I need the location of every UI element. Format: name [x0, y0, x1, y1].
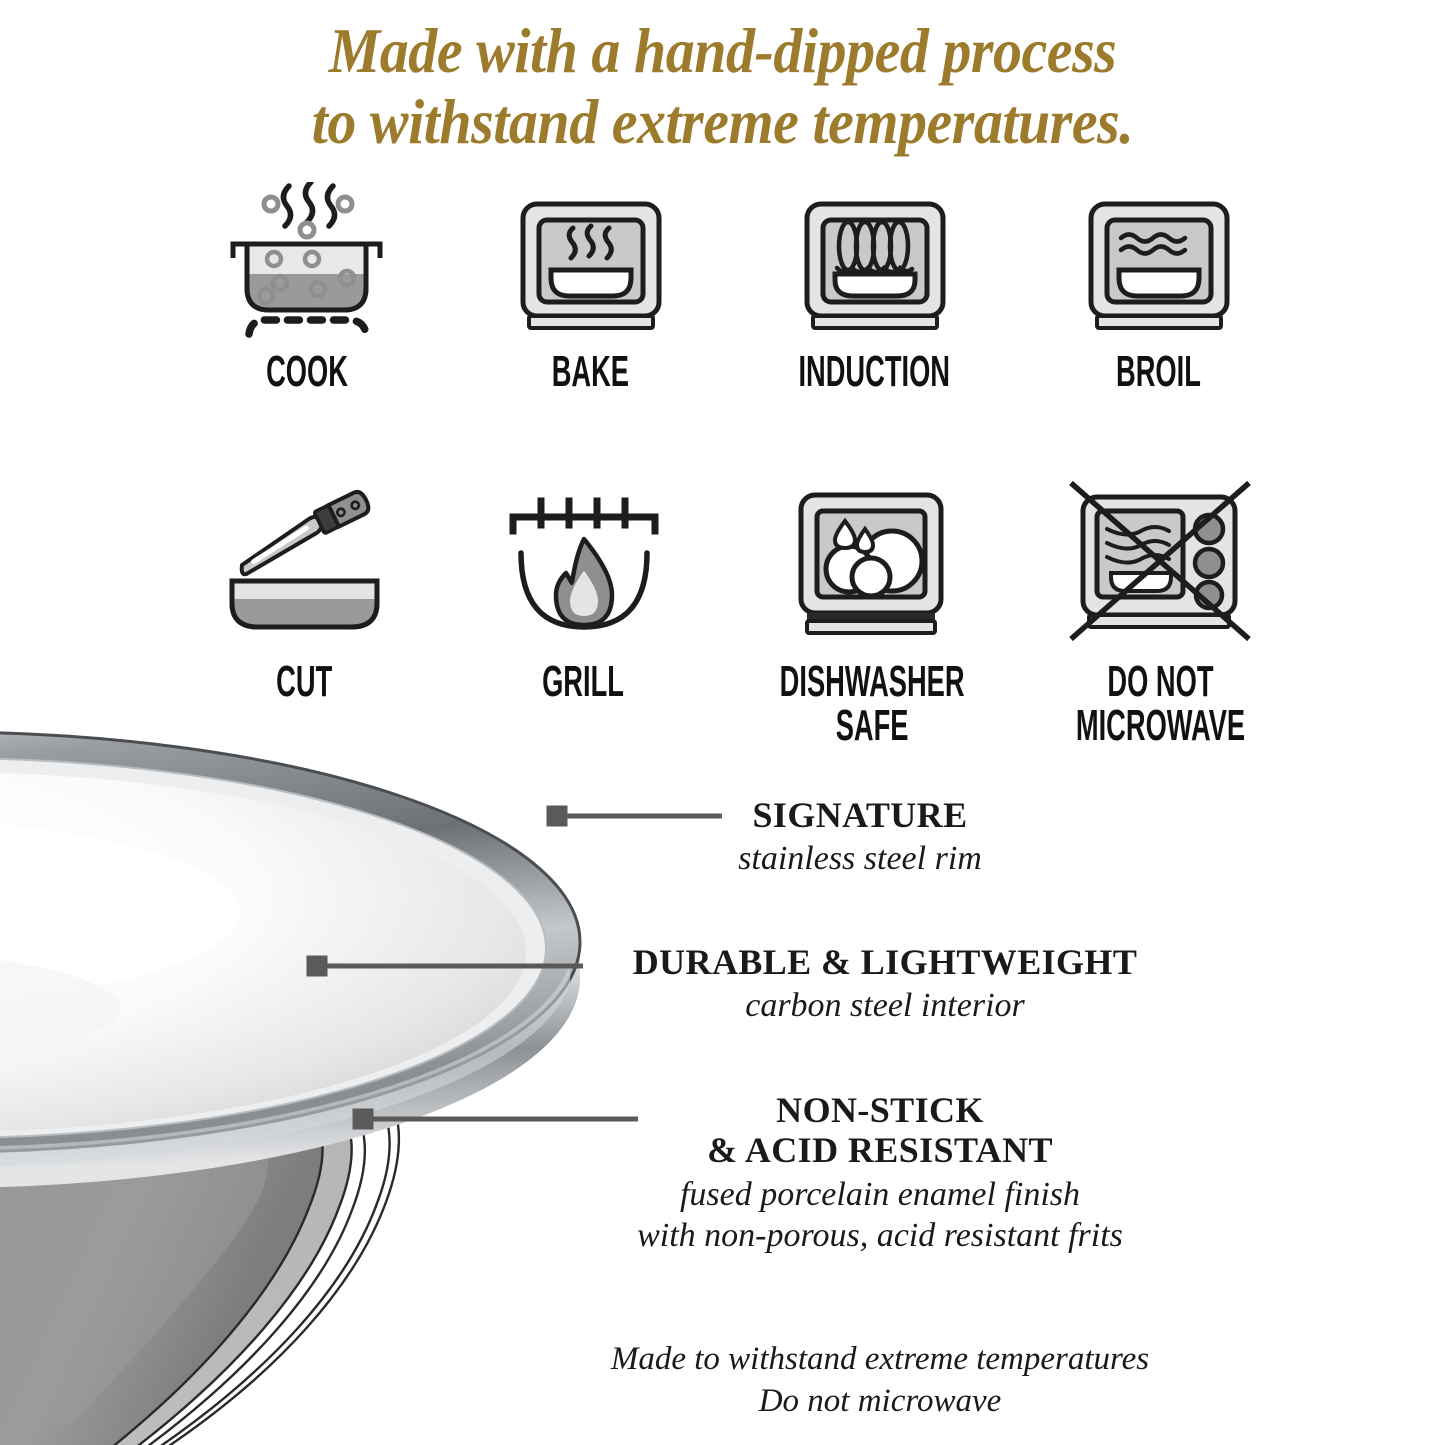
headline-line-1: Made with a hand-dipped process: [329, 16, 1117, 86]
infographic-page: Made with a hand-dipped process to withs…: [0, 0, 1445, 1445]
dishwasher-label-line-1: DISHWASHER: [780, 657, 965, 706]
icon-row-1: COOK BA: [165, 182, 1300, 393]
footer-line-1: Made to withstand extreme temperatures: [430, 1338, 1330, 1380]
headline-line-2: to withstand extreme temperatures.: [58, 87, 1387, 158]
cook-icon: [219, 182, 394, 342]
callout-signature-subtitle: stainless steel rim: [620, 838, 1100, 879]
broil-icon-label: BROIL: [1116, 350, 1201, 393]
cookware-illustration: [0, 612, 640, 1445]
callout-nonstick-subtitle-line-1: fused porcelain enamel finish: [500, 1174, 1260, 1215]
do-not-microwave-icon: [1063, 477, 1258, 652]
callout-non-stick-acid-resistant: NON-STICK & ACID RESISTANT fused porcela…: [500, 1090, 1260, 1257]
induction-icon-box: [787, 182, 962, 342]
callout-nonstick-subtitle-line-2: with non-porous, acid resistant frits: [500, 1215, 1260, 1256]
icon-cell-bake: BAKE: [449, 182, 733, 393]
callout-signature: SIGNATURE stainless steel rim: [620, 795, 1100, 880]
callout-durable-title: DURABLE & LIGHTWEIGHT: [520, 942, 1250, 982]
cook-icon-box: [219, 182, 394, 342]
cook-icon-label: COOK: [266, 350, 348, 393]
induction-icon-label: INDUCTION: [799, 350, 951, 393]
microwave-label-line-2: MICROWAVE: [1076, 701, 1245, 750]
do-not-microwave-icon-label: DO NOT MICROWAVE: [1076, 660, 1245, 748]
dishwasher-safe-icon-box: [779, 477, 964, 652]
icon-cell-do-not-microwave: DO NOT MICROWAVE: [1021, 477, 1300, 748]
do-not-microwave-icon-box: [1063, 477, 1258, 652]
bake-icon-label: BAKE: [552, 350, 629, 393]
icon-cell-induction: INDUCTION: [733, 182, 1017, 393]
callout-nonstick-title-line-2: & ACID RESISTANT: [500, 1130, 1260, 1170]
page-title: Made with a hand-dipped process to withs…: [58, 16, 1387, 158]
bake-icon-box: [503, 182, 678, 342]
bake-icon: [503, 182, 678, 342]
cookware-cutaway-svg: [0, 612, 640, 1445]
microwave-label-line-1: DO NOT: [1107, 657, 1213, 706]
callout-durable-subtitle: carbon steel interior: [520, 985, 1250, 1026]
icon-cell-broil: BROIL: [1016, 182, 1300, 393]
callout-signature-title: SIGNATURE: [620, 795, 1100, 835]
footer-note: Made to withstand extreme temperatures D…: [430, 1338, 1330, 1422]
callout-durable-lightweight: DURABLE & LIGHTWEIGHT carbon steel inter…: [520, 942, 1250, 1027]
induction-icon: [787, 182, 962, 342]
dishwasher-safe-icon: [779, 477, 964, 652]
footer-line-2: Do not microwave: [430, 1380, 1330, 1422]
broil-icon-box: [1071, 182, 1246, 342]
callout-nonstick-title-line-1: NON-STICK: [500, 1090, 1260, 1130]
dishwasher-safe-icon-label: DISHWASHER SAFE: [780, 660, 965, 748]
icon-cell-dishwasher-safe: DISHWASHER SAFE: [723, 477, 1021, 748]
icon-cell-cook: COOK: [165, 182, 449, 393]
broil-icon: [1071, 182, 1246, 342]
dishwasher-label-line-2: SAFE: [836, 701, 909, 750]
